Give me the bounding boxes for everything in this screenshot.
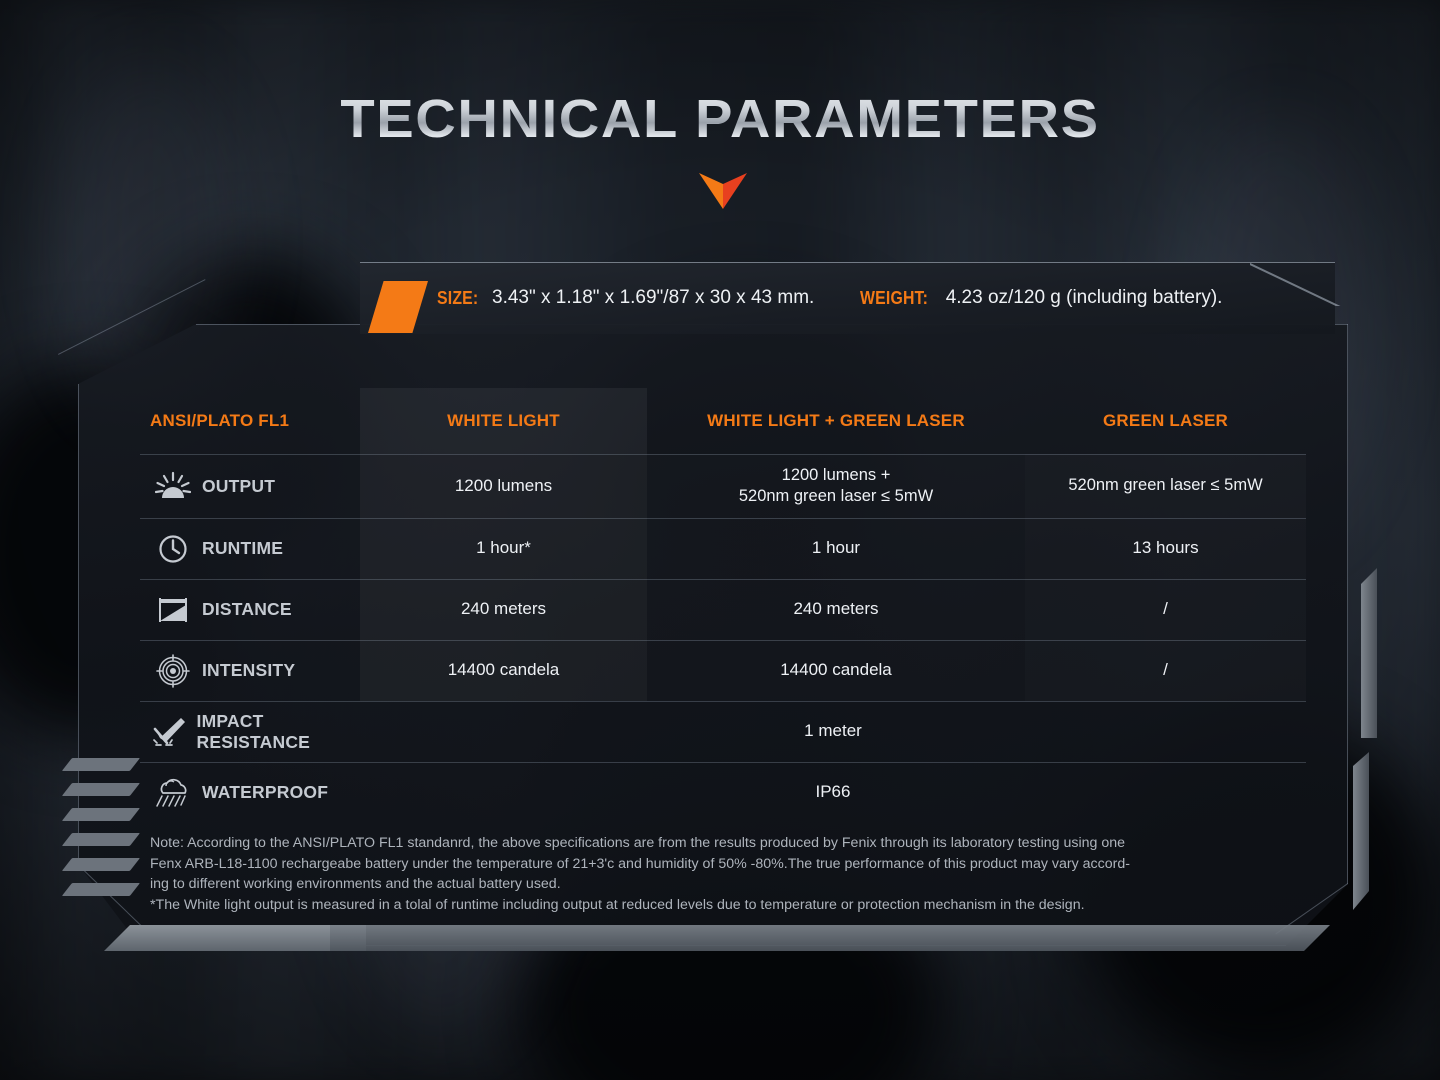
table-header-row: ANSI/PLATO FL1 WHITE LIGHT WHITE LIGHT +… [140, 388, 1306, 454]
cell-line-1: 1200 lumens + [739, 465, 933, 486]
cell-distance-white-light: 240 meters [360, 579, 647, 640]
row-label-text: WATERPROOF [202, 782, 328, 803]
hash-stripes-decoration [72, 758, 142, 918]
note-block: Note: According to the ANSI/PLATO FL1 st… [150, 833, 1310, 915]
cell-output-green-laser: 520nm green laser ≤ 5mW [1025, 454, 1306, 518]
table-row: RUNTIME 1 hour* 1 hour 13 hours [140, 518, 1306, 579]
cell-impact-resistance-value: 1 meter [360, 701, 1306, 762]
clock-icon [150, 533, 196, 565]
spec-table: ANSI/PLATO FL1 WHITE LIGHT WHITE LIGHT +… [140, 388, 1306, 823]
table-row: IMPACT RESISTANCE 1 meter [140, 701, 1306, 762]
row-label-impact-resistance: IMPACT RESISTANCE [140, 701, 360, 762]
impact-arrow-icon [150, 716, 191, 748]
note-line-1: Note: According to the ANSI/PLATO FL1 st… [150, 833, 1310, 854]
cell-intensity-green-laser: / [1025, 640, 1306, 701]
column-header-green-laser: GREEN LASER [1025, 388, 1306, 454]
row-label-text: IMPACT RESISTANCE [197, 711, 360, 753]
row-label-text: DISTANCE [202, 599, 292, 620]
cell-waterproof-value: IP66 [360, 762, 1306, 823]
row-label-text: INTENSITY [202, 660, 295, 681]
cell-intensity-white-light: 14400 candela [360, 640, 647, 701]
note-line-2: Fenx ARB-L18-1100 rechargeabe battery un… [150, 854, 1310, 875]
row-label-text: OUTPUT [202, 476, 275, 497]
cell-distance-green-laser: / [1025, 579, 1306, 640]
size-label: SIZE: [437, 288, 478, 309]
note-line-4: *The White light output is measured in a… [150, 895, 1310, 916]
page-root: TECHNICAL PARAMETERS SIZE: 3.43" x 1.18"… [0, 0, 1440, 1080]
row-label-text: RUNTIME [202, 538, 283, 559]
row-label-output: OUTPUT [140, 454, 360, 518]
row-label-intensity: INTENSITY [140, 640, 360, 701]
row-label-distance: DISTANCE [140, 579, 360, 640]
row-label-runtime: RUNTIME [140, 518, 360, 579]
table-row: INTENSITY 14400 candela 14400 candela / [140, 640, 1306, 701]
cell-output-white-light: 1200 lumens [360, 454, 647, 518]
weight-label: WEIGHT: [860, 288, 928, 309]
cell-runtime-white-light-green-laser: 1 hour [647, 518, 1025, 579]
cell-distance-white-light-green-laser: 240 meters [647, 579, 1025, 640]
target-intensity-icon [150, 654, 196, 688]
chevron-down-icon [699, 173, 747, 209]
size-weight-band-corner [1250, 262, 1342, 306]
right-accent-bar-top [1361, 568, 1377, 738]
size-value: 3.43" x 1.18" x 1.69"/87 x 30 x 43 mm. [492, 287, 814, 309]
cell-line-2: 520nm green laser ≤ 5mW [739, 486, 933, 507]
page-title: TECHNICAL PARAMETERS [0, 88, 1440, 150]
row-label-waterproof: WATERPROOF [140, 762, 360, 823]
weight-value: 4.23 oz/120 g (including battery). [946, 287, 1223, 309]
beam-distance-icon [150, 595, 196, 625]
column-header-white-light: WHITE LIGHT [360, 388, 647, 454]
right-accent-bar-bottom [1353, 752, 1369, 910]
table-row: WATERPROOF IP66 [140, 762, 1306, 823]
bottom-bar-decoration-left [104, 925, 366, 951]
cell-runtime-white-light: 1 hour* [360, 518, 647, 579]
cell-intensity-white-light-green-laser: 14400 candela [647, 640, 1025, 701]
column-header-ansi: ANSI/PLATO FL1 [140, 388, 360, 454]
rain-cloud-icon [150, 777, 196, 809]
note-line-3: ing to different working environments an… [150, 874, 1310, 895]
size-weight-text: SIZE: 3.43" x 1.18" x 1.69"/87 x 30 x 43… [437, 262, 1222, 334]
sunburst-icon [150, 471, 196, 501]
bottom-bar-decoration-right [330, 925, 1360, 951]
table-row: OUTPUT 1200 lumens 1200 lumens + 520nm g… [140, 454, 1306, 518]
cell-runtime-green-laser: 13 hours [1025, 518, 1306, 579]
column-header-white-light-green-laser: WHITE LIGHT + GREEN LASER [647, 388, 1025, 454]
table-row: DISTANCE 240 meters 240 meters / [140, 579, 1306, 640]
cell-output-white-light-green-laser: 1200 lumens + 520nm green laser ≤ 5mW [647, 454, 1025, 518]
